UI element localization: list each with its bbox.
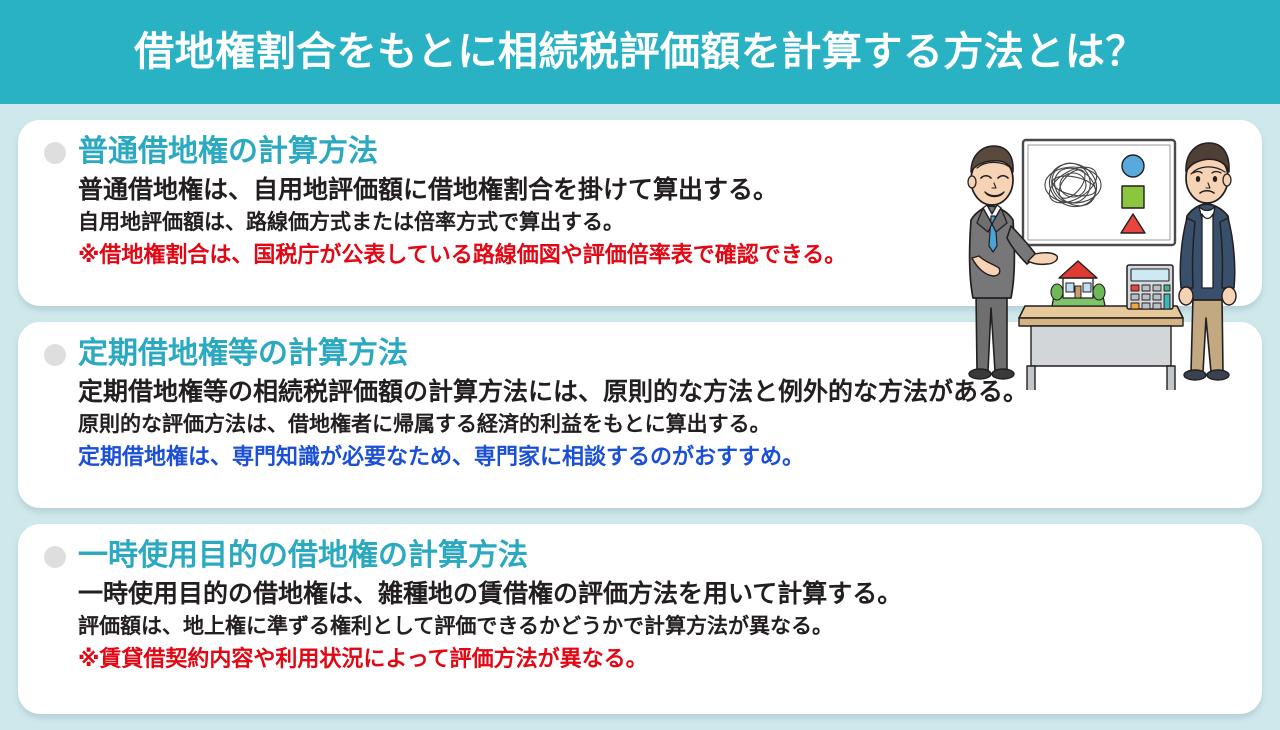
bullet-dot-icon (44, 546, 66, 568)
card-header: 普通借地権の計算方法 (44, 134, 1236, 170)
bullet-dot-icon (44, 142, 66, 164)
page-title: 借地権割合をもとに相続税評価額を計算する方法とは？ (134, 32, 1146, 72)
card-body: 一時使用目的の借地権は、雑種地の賃借権の評価方法を用いて計算する。 評価額は、地… (44, 578, 1236, 673)
card-note-text: ※借地権割合は、国税庁が公表している路線価図や評価倍率表で確認できる。 (78, 241, 1236, 269)
card-body: 定期借地権等の相続税評価額の計算方法には、原則的な方法と例外的な方法がある。 原… (44, 376, 1236, 471)
infographic-page: 借地権割合をもとに相続税評価額を計算する方法とは？ 普通借地権の計算方法 普通借… (0, 0, 1280, 720)
card-title: 普通借地権の計算方法 (78, 134, 378, 170)
card-teiki-shakuchiken: 定期借地権等の計算方法 定期借地権等の相続税評価額の計算方法には、原則的な方法と… (18, 322, 1262, 508)
card-sub-text: 自用地評価額は、路線価方式または倍率方式で算出する。 (78, 210, 1236, 237)
card-title: 定期借地権等の計算方法 (78, 336, 408, 372)
card-sub-text: 原則的な評価方法は、借地権者に帰属する経済的利益をもとに算出する。 (78, 412, 1236, 439)
card-lead-text: 一時使用目的の借地権は、雑種地の賃借権の評価方法を用いて計算する。 (78, 578, 1236, 610)
bullet-dot-icon (44, 344, 66, 366)
card-header: 一時使用目的の借地権の計算方法 (44, 538, 1236, 574)
card-lead-text: 定期借地権等の相続税評価額の計算方法には、原則的な方法と例外的な方法がある。 (78, 376, 1236, 408)
page-header: 借地権割合をもとに相続税評価額を計算する方法とは？ (0, 0, 1280, 104)
card-header: 定期借地権等の計算方法 (44, 336, 1236, 372)
card-list: 普通借地権の計算方法 普通借地権は、自用地評価額に借地権割合を掛けて算出する。 … (18, 120, 1262, 730)
card-note-text: ※賃貸借契約内容や利用状況によって評価方法が異なる。 (78, 645, 1236, 673)
card-sub-text: 評価額は、地上権に準ずる権利として評価できるかどうかで計算方法が異なる。 (78, 614, 1236, 641)
card-title: 一時使用目的の借地権の計算方法 (78, 538, 528, 574)
card-lead-text: 普通借地権は、自用地評価額に借地権割合を掛けて算出する。 (78, 174, 1236, 206)
card-note-text: 定期借地権は、専門知識が必要なため、専門家に相談するのがおすすめ。 (78, 443, 1236, 471)
card-ichiji-shiyou-shakuchiken: 一時使用目的の借地権の計算方法 一時使用目的の借地権は、雑種地の賃借権の評価方法… (18, 524, 1262, 714)
card-futsu-shakuchiken: 普通借地権の計算方法 普通借地権は、自用地評価額に借地権割合を掛けて算出する。 … (18, 120, 1262, 306)
card-body: 普通借地権は、自用地評価額に借地権割合を掛けて算出する。 自用地評価額は、路線価… (44, 174, 1236, 269)
